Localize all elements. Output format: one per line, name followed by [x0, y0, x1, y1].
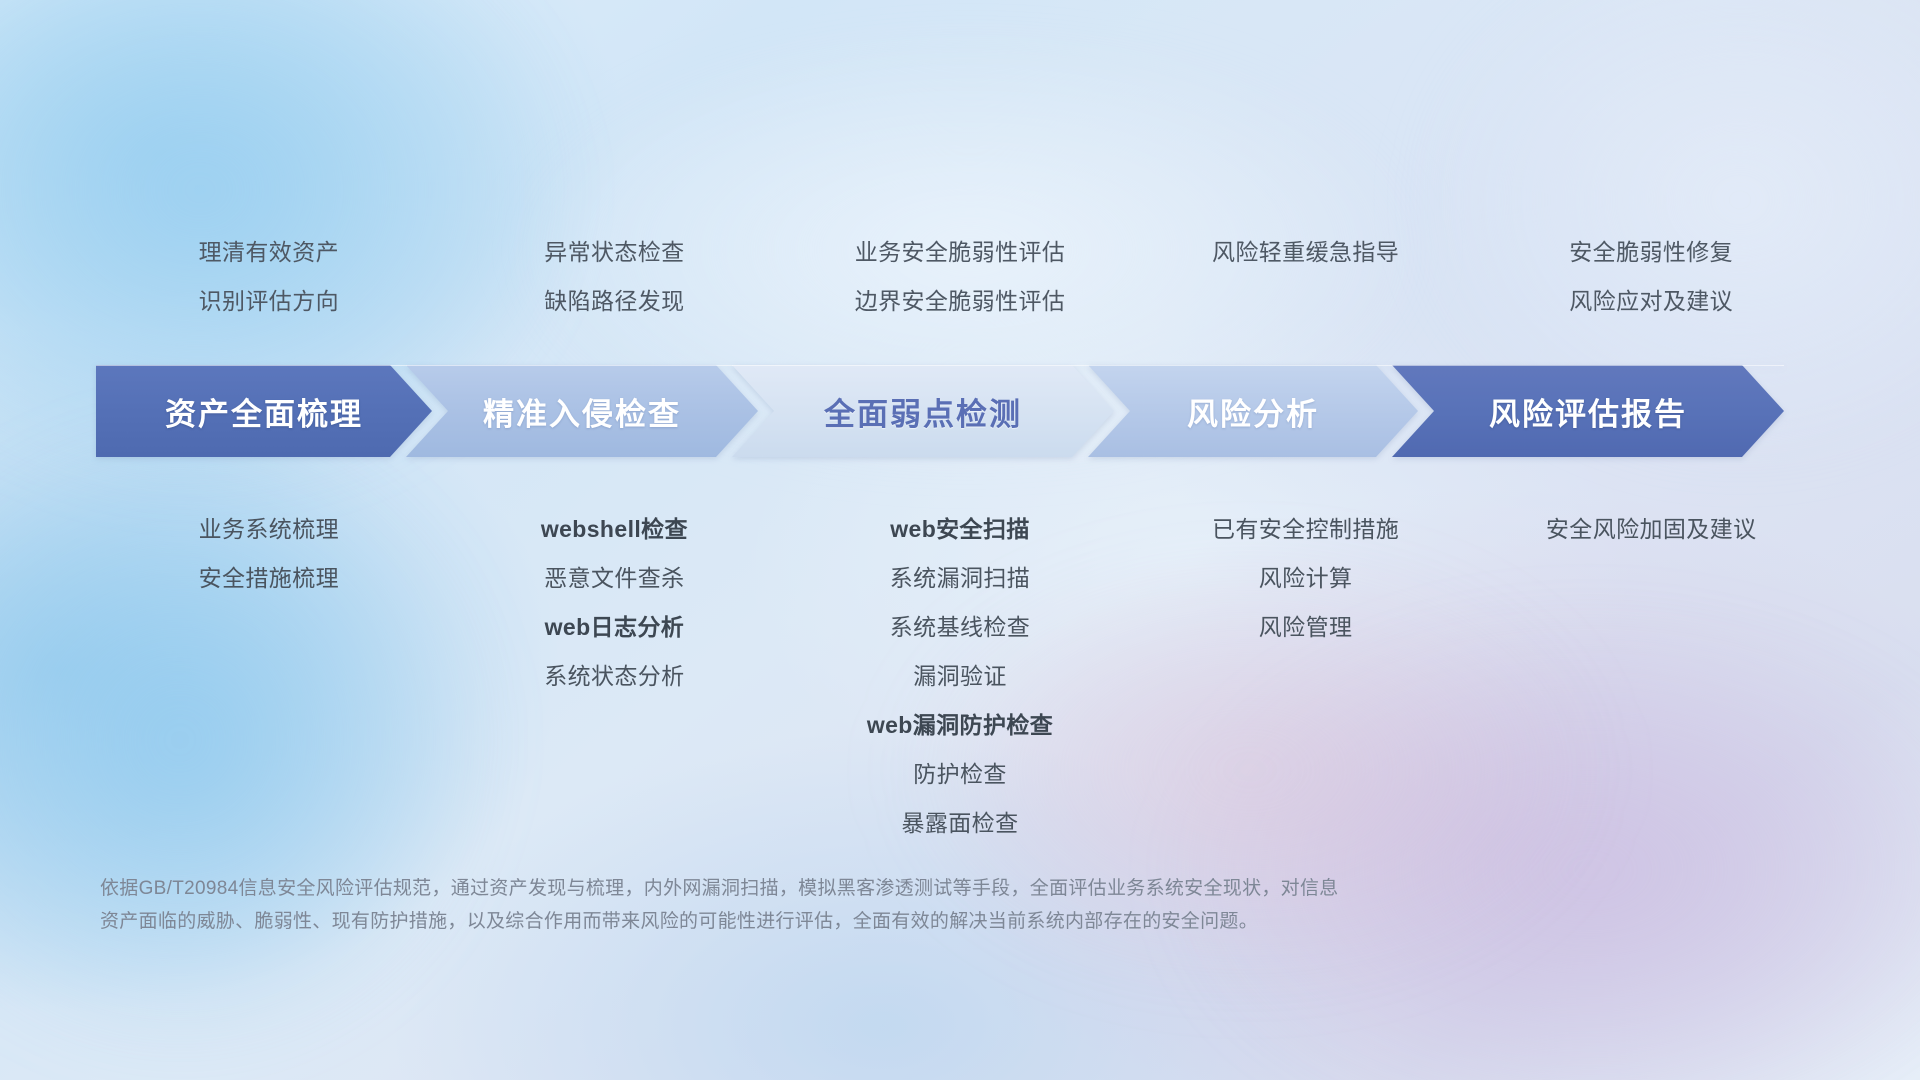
stage-output-item: 漏洞验证: [913, 652, 1007, 701]
stage-inputs-row: 理清有效资产 识别评估方向 异常状态检查 缺陷路径发现 业务安全脆弱性评估 边界…: [96, 228, 1824, 326]
stage-output-item: 安全风险加固及建议: [1546, 505, 1757, 554]
stage-output-item: 风险管理: [1259, 603, 1353, 652]
stage-output-item: 系统基线检查: [890, 603, 1030, 652]
chevron-stage-weakness-detection[interactable]: 全面弱点检测: [732, 365, 1114, 457]
slide-canvas: 理清有效资产 识别评估方向 异常状态检查 缺陷路径发现 业务安全脆弱性评估 边界…: [0, 0, 1920, 1080]
chevron-label: 资产全面梳理: [165, 389, 363, 434]
chevron-stage-intrusion-check[interactable]: 精准入侵检查: [406, 365, 758, 457]
stage-output-item: 系统漏洞扫描: [890, 554, 1030, 603]
stage-output-item: 系统状态分析: [544, 652, 684, 701]
stage-outputs-3: web安全扫描 系统漏洞扫描 系统基线检查 漏洞验证 web漏洞防护检查 防护检…: [787, 505, 1133, 848]
stage-outputs-1: 业务系统梳理 安全措施梳理: [96, 505, 442, 848]
stage-output-item: web漏洞防护检查: [867, 701, 1053, 750]
stage-output-item: 防护检查: [913, 750, 1007, 799]
footer-description: 依据GB/T20984信息安全风险评估规范，通过资产发现与梳理，内外网漏洞扫描，…: [100, 872, 1620, 938]
stage-output-item: web日志分析: [545, 603, 685, 652]
stage-input-item: 风险轻重缓急指导: [1212, 228, 1399, 277]
stage-input-item: 业务安全脆弱性评估: [855, 228, 1066, 277]
stage-input-item: 风险应对及建议: [1569, 277, 1733, 326]
chevron-stage-risk-analysis[interactable]: 风险分析: [1088, 365, 1418, 457]
stage-output-item: 恶意文件查杀: [544, 554, 684, 603]
stage-output-item: webshell检查: [541, 505, 688, 554]
stage-outputs-2: webshell检查 恶意文件查杀 web日志分析 系统状态分析: [442, 505, 788, 848]
stage-outputs-4: 已有安全控制措施 风险计算 风险管理: [1133, 505, 1479, 848]
stage-inputs-4: 风险轻重缓急指导: [1133, 228, 1479, 326]
stage-outputs-5: 安全风险加固及建议: [1478, 505, 1824, 848]
chevron-stage-risk-report[interactable]: 风险评估报告: [1392, 365, 1784, 457]
stage-inputs-1: 理清有效资产 识别评估方向: [96, 228, 442, 326]
stage-inputs-3: 业务安全脆弱性评估 边界安全脆弱性评估: [787, 228, 1133, 326]
stage-outputs-row: 业务系统梳理 安全措施梳理 webshell检查 恶意文件查杀 web日志分析 …: [96, 505, 1824, 848]
stage-input-item: 边界安全脆弱性评估: [855, 277, 1066, 326]
stage-output-item: 业务系统梳理: [199, 505, 339, 554]
stage-output-item: web安全扫描: [890, 505, 1030, 554]
stage-input-item: 理清有效资产: [199, 228, 339, 277]
chevron-stage-asset-inventory[interactable]: 资产全面梳理: [96, 365, 432, 457]
stage-input-item: 缺陷路径发现: [544, 277, 684, 326]
stage-output-item: 风险计算: [1259, 554, 1353, 603]
stage-inputs-2: 异常状态检查 缺陷路径发现: [442, 228, 788, 326]
stage-input-item: 异常状态检查: [544, 228, 684, 277]
chevron-label: 风险评估报告: [1489, 389, 1687, 434]
stage-output-item: 已有安全控制措施: [1212, 505, 1399, 554]
stage-input-item: 安全脆弱性修复: [1569, 228, 1733, 277]
footer-line-1: 依据GB/T20984信息安全风险评估规范，通过资产发现与梳理，内外网漏洞扫描，…: [100, 872, 1620, 905]
stage-output-item: 暴露面检查: [901, 799, 1018, 848]
process-chevron-banner: 资产全面梳理 精准入侵检查 全面弱点检测 风险分析 风险评估报告: [96, 365, 1824, 457]
chevron-label: 精准入侵检查: [483, 389, 681, 434]
chevron-label: 风险分析: [1187, 389, 1319, 434]
stage-inputs-5: 安全脆弱性修复 风险应对及建议: [1478, 228, 1824, 326]
stage-input-item: 识别评估方向: [199, 277, 339, 326]
footer-line-2: 资产面临的威胁、脆弱性、现有防护措施，以及综合作用而带来风险的可能性进行评估，全…: [100, 905, 1620, 938]
stage-output-item: 安全措施梳理: [199, 554, 339, 603]
chevron-label: 全面弱点检测: [824, 389, 1022, 434]
